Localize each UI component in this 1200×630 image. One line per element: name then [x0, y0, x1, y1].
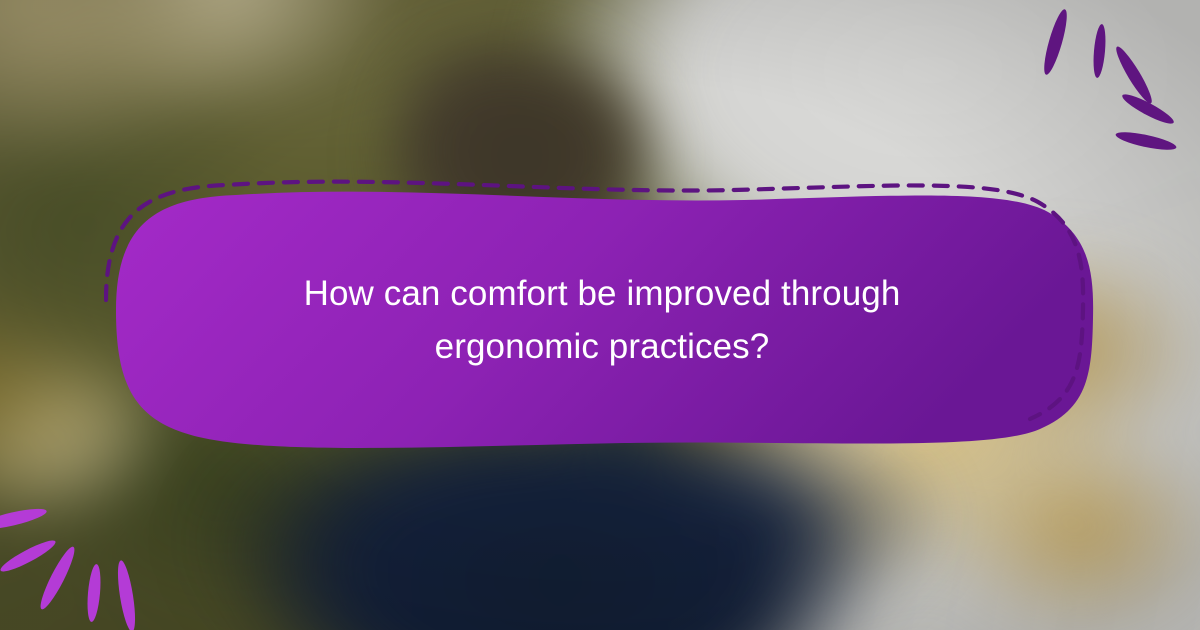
sparkle-ray-icon — [0, 505, 48, 533]
sparkle-ray-icon — [114, 559, 138, 630]
social-card-canvas: How can comfort be improved through ergo… — [0, 0, 1200, 630]
question-text: How can comfort be improved through ergo… — [257, 261, 947, 373]
sparkle-ray-icon — [85, 564, 102, 623]
question-card: How can comfort be improved through ergo… — [104, 178, 1100, 456]
sparkle-ray-icon — [0, 536, 58, 576]
question-text-container: How can comfort be improved through ergo… — [104, 178, 1100, 456]
